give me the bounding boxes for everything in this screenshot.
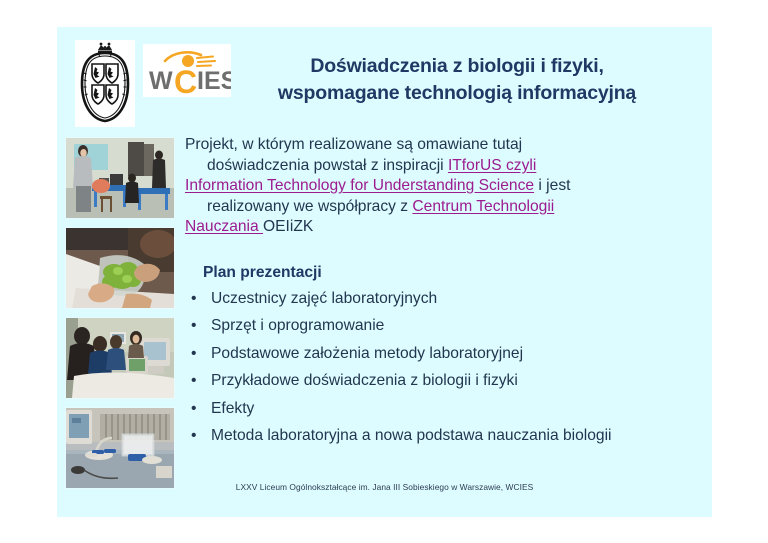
intro-seg-3: i jest xyxy=(534,177,570,194)
slide-content: Projekt, w którym realizowane są omawian… xyxy=(185,135,697,450)
list-item-label: Sprzęt i oprogramowanie xyxy=(211,317,384,334)
page-title: Doświadczenia z biologii i fizyki, wspom… xyxy=(207,53,707,107)
intro-paragraph: Projekt, w którym realizowane są omawian… xyxy=(185,135,697,238)
photo-lab-equipment-desk xyxy=(65,407,175,489)
intro-line-4: realizowany we współpracy z Centrum Tech… xyxy=(185,197,697,218)
list-item: • Przykładowe doświadczenia z biologii i… xyxy=(185,367,697,395)
bullet-icon: • xyxy=(191,395,196,423)
link-itforus[interactable]: ITforUS czyli xyxy=(448,157,536,174)
plan-list: • Uczestnicy zajęć laboratoryjnych • Spr… xyxy=(185,285,697,450)
link-centrum-technologii[interactable]: Centrum Technologii xyxy=(412,198,554,215)
photo-column xyxy=(65,137,175,497)
intro-seg-4: realizowany we współpracy z xyxy=(207,198,412,215)
list-item: • Sprzęt i oprogramowanie xyxy=(185,312,697,340)
title-line-2: wspomagane technologią informacyjną xyxy=(207,80,707,107)
intro-line-1: Projekt, w którym realizowane są omawian… xyxy=(185,135,697,156)
list-item-label: Podstawowe założenia metody laboratoryjn… xyxy=(211,345,523,362)
list-item: • Podstawowe założenia metody laboratory… xyxy=(185,340,697,368)
bullet-icon: • xyxy=(191,422,196,450)
slide-footer: LXXV Liceum Ogólnokształcące im. Jana II… xyxy=(57,482,712,492)
svg-text:W: W xyxy=(149,67,173,95)
list-item-label: Przykładowe doświadczenia z biologii i f… xyxy=(211,372,518,389)
intro-line-3: Information Technology for Understanding… xyxy=(185,176,697,197)
presentation-slide: W C IES Doświadczenia z biologii i fizyk… xyxy=(57,27,712,517)
list-item-label: Uczestnicy zajęć laboratoryjnych xyxy=(211,290,437,307)
photo-hands-bag-green-leaves xyxy=(65,227,175,309)
title-line-1: Doświadczenia z biologii i fizyki, xyxy=(207,53,707,80)
plan-heading: Plan prezentacji xyxy=(203,264,697,282)
list-item: • Uczestnicy zajęć laboratoryjnych xyxy=(185,285,697,313)
bullet-icon: • xyxy=(191,340,196,368)
svg-text:C: C xyxy=(174,64,197,97)
intro-seg-5: OEIiZK xyxy=(263,218,313,235)
link-information-technology[interactable]: Information Technology for Understanding… xyxy=(185,177,534,194)
intro-seg-2: doświadczenia powstał z inspiracji xyxy=(207,157,448,174)
intro-line-2: doświadczenia powstał z inspiracji ITfor… xyxy=(185,156,697,177)
intro-line-5: Nauczania OEIiZK xyxy=(185,217,697,238)
link-nauczania[interactable]: Nauczania xyxy=(185,218,263,235)
slide-header: W C IES Doświadczenia z biologii i fizyk… xyxy=(57,27,712,132)
list-item: • Metoda laboratoryjna a nowa podstawa n… xyxy=(185,422,697,450)
photo-classroom-teacher-balloon xyxy=(65,137,175,219)
list-item: • Efekty xyxy=(185,395,697,423)
photo-students-at-computers xyxy=(65,317,175,399)
university-crest-icon xyxy=(75,40,135,127)
bullet-icon: • xyxy=(191,312,196,340)
bullet-icon: • xyxy=(191,367,196,395)
bullet-icon: • xyxy=(191,285,196,313)
list-item-label: Efekty xyxy=(211,400,254,417)
list-item-label: Metoda laboratoryjna a nowa podstawa nau… xyxy=(211,427,612,444)
